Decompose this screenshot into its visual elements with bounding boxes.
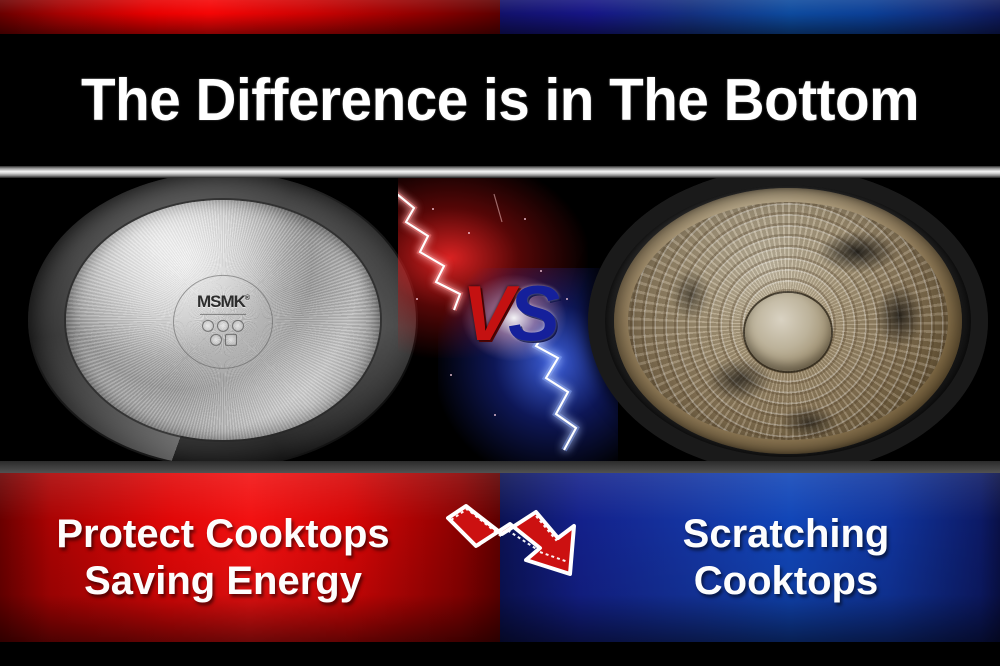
spark-particle: [432, 208, 434, 210]
electric-icon: [225, 334, 237, 346]
comparison-photo-strip: MSMK®: [0, 178, 1000, 461]
brand-underline: [200, 314, 246, 315]
ceramic-icon: [210, 334, 222, 346]
spark-particle: [494, 414, 496, 416]
comparison-arrow: [440, 500, 580, 590]
benefit-line-1: Protect Cooktops: [0, 511, 446, 558]
gas-stove-icon: [202, 320, 214, 332]
induction-icon: [217, 320, 229, 332]
brand-name: MSMK: [197, 292, 245, 311]
benefit-line-2: Saving Energy: [0, 558, 446, 605]
spark-particle: [450, 374, 452, 376]
feature-icon-row-2: [210, 334, 237, 346]
product-comparison-poster: The Difference is in The Bottom MSMK®: [0, 0, 1000, 666]
downward-zigzag-arrow-icon: [440, 500, 580, 590]
halogen-icon: [232, 320, 244, 332]
feature-icon-row-1: [202, 320, 244, 332]
drawback-line-2: Cooktops: [572, 558, 1000, 605]
lightning-vs-effect: VS: [398, 178, 618, 461]
spark-particle: [468, 232, 470, 234]
msmk-pan-image: MSMK®: [28, 178, 418, 461]
top-banner-shading: [0, 0, 1000, 34]
brand-wordmark: MSMK®: [197, 292, 249, 312]
vs-label: VS: [398, 274, 618, 352]
benefit-text-left: Protect Cooktops Saving Energy: [0, 511, 500, 605]
msmk-logo-medallion: MSMK®: [173, 275, 273, 369]
bottom-black-strip: [0, 642, 1000, 666]
page-title: The Difference is in The Bottom: [20, 66, 980, 134]
drawback-line-1: Scratching: [572, 511, 1000, 558]
vs-letter-v: V: [462, 269, 508, 357]
worn-pan-image: [588, 178, 988, 461]
worn-pan-outer-rim: [588, 178, 988, 461]
registered-trademark-icon: ®: [245, 295, 249, 302]
benefit-band-left: Protect Cooktops Saving Energy: [0, 473, 500, 642]
vs-letter-s: S: [508, 269, 554, 357]
chrome-divider-top: [0, 166, 1000, 178]
spark-particle: [524, 218, 526, 220]
